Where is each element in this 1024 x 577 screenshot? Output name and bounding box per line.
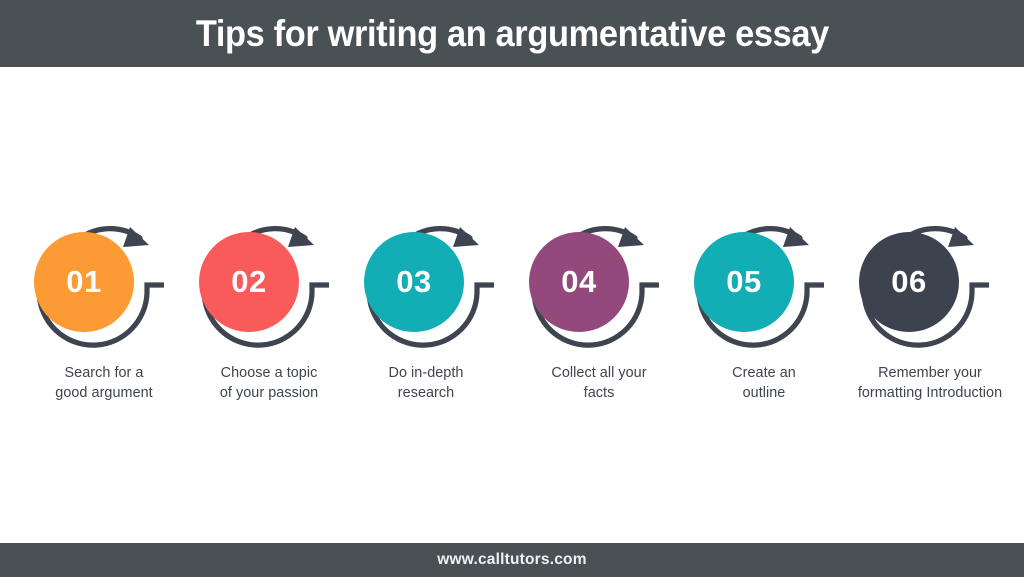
step-item: 01 Search for a good argument [22, 215, 187, 415]
step-number-badge: 02 [199, 232, 299, 332]
step-label-line2: facts [511, 383, 687, 403]
step-label: Do in-depth research [338, 363, 514, 403]
step-item: 03 Do in-depth research [352, 215, 517, 415]
step-label: Remember your formatting Introduction [825, 363, 1024, 403]
step-label-line1: Do in-depth [389, 365, 464, 381]
step-number-badge: 01 [34, 232, 134, 332]
step-label-line1: Choose a topic [221, 365, 318, 381]
step-label-line2: good argument [16, 383, 192, 403]
step-number-text: 01 [66, 264, 101, 300]
step-label-line1: Search for a [65, 365, 144, 381]
step-item: 06 Remember your formatting Introduction [847, 215, 1012, 415]
step-item: 02 Choose a topic of your passion [187, 215, 352, 415]
step-label-line1: Collect all your [551, 365, 646, 381]
footer-bar: www.calltutors.com [0, 543, 1024, 577]
step-label-line2: formatting Introduction [825, 383, 1024, 403]
step-label-line1: Create an [732, 365, 796, 381]
step-number-text: 03 [396, 264, 431, 300]
step-label-line1: Remember your [878, 365, 982, 381]
step-number-text: 04 [561, 264, 596, 300]
step-number-badge: 03 [364, 232, 464, 332]
page-title: Tips for writing an argumentative essay [195, 13, 828, 55]
step-number-badge: 05 [694, 232, 794, 332]
step-item: 05 Create an outline [682, 215, 847, 415]
header-bar: Tips for writing an argumentative essay [0, 0, 1024, 67]
step-label-line2: research [338, 383, 514, 403]
step-item: 04 Collect all your facts [517, 215, 682, 415]
step-label: Choose a topic of your passion [181, 363, 357, 403]
step-number-text: 02 [231, 264, 266, 300]
step-number-text: 05 [726, 264, 761, 300]
step-number-badge: 04 [529, 232, 629, 332]
step-number-badge: 06 [859, 232, 959, 332]
website-url: www.calltutors.com [437, 551, 586, 569]
step-label: Search for a good argument [16, 363, 192, 403]
step-number-text: 06 [891, 264, 926, 300]
steps-row: 01 Search for a good argument 02 Choose … [0, 215, 1024, 415]
step-label: Collect all your facts [511, 363, 687, 403]
infographic-page: Tips for writing an argumentative essay … [0, 0, 1024, 577]
step-label-line2: of your passion [181, 383, 357, 403]
